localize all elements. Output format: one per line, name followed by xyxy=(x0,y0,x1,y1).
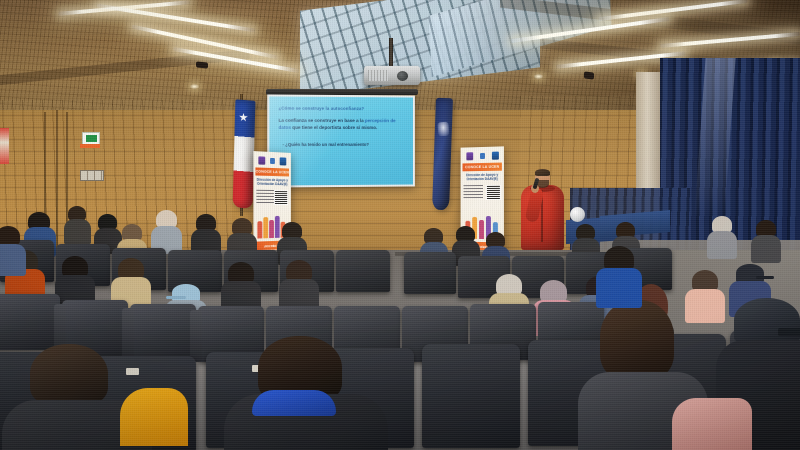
banner-logo-icon xyxy=(280,157,287,165)
person-torso xyxy=(685,289,725,323)
banner-figure xyxy=(263,217,268,238)
auditorium-seat[interactable] xyxy=(130,304,196,360)
projector-lens xyxy=(397,71,408,81)
flag-star-icon xyxy=(239,113,248,123)
banner-headline: CONOCE LA UCEN xyxy=(255,167,289,176)
person-torso xyxy=(751,235,781,263)
ceiling-downlight xyxy=(534,74,543,79)
banner-figure xyxy=(269,220,274,238)
slide-body-lead: La confianza se construye en base a la xyxy=(278,118,364,123)
person-hair xyxy=(600,300,674,380)
banner-figure xyxy=(257,221,262,238)
banner-logo-row xyxy=(463,148,502,162)
slide-body: La confianza se construye en base a la p… xyxy=(278,118,404,132)
light-switch-panel[interactable] xyxy=(80,170,104,181)
banner-subtitle: Dirección de Apoyo y Orientación DAAV(E) xyxy=(256,178,288,187)
slide-body-tail: que tiene el deportista sobre sí mismo. xyxy=(291,125,377,130)
banner-logo-icon xyxy=(258,156,265,164)
person-hair xyxy=(0,226,20,246)
projector-vent xyxy=(368,70,388,81)
foreground-blue-collar xyxy=(252,390,336,416)
banner-subtitle: Dirección de Apoyo y Orientación DAAV(E) xyxy=(463,173,500,182)
exit-sign-green-field xyxy=(86,135,97,142)
person-hair xyxy=(30,344,108,406)
slide-title: ¿Cómo se construye la autoconfianza? xyxy=(278,106,405,112)
volleyball xyxy=(570,207,585,222)
auditorium-seat[interactable] xyxy=(336,250,390,292)
slide-question: - ¿Quién ha tenido un mal entrenamiento? xyxy=(283,142,405,148)
foreground-yellow-hood xyxy=(120,388,188,446)
exit-sign-label-strip xyxy=(80,144,100,148)
cap-brim xyxy=(756,276,774,279)
banner-figure xyxy=(479,220,484,239)
person-cap xyxy=(736,264,764,282)
chilean-flag xyxy=(233,99,256,208)
banner-logo-icon xyxy=(480,152,485,158)
auditorium-seat-foreground[interactable] xyxy=(422,344,520,448)
person-torso xyxy=(0,244,26,276)
seat-number-tag xyxy=(126,368,139,375)
banner-logo-icon xyxy=(270,157,275,163)
wall-poster-left xyxy=(0,128,9,164)
banner-qr-code xyxy=(486,185,501,200)
ceiling-speaker xyxy=(584,71,594,79)
ceiling-speaker xyxy=(196,61,208,68)
presenter-hair xyxy=(535,169,550,176)
banner-headline: CONOCE LA UCEN xyxy=(463,163,502,172)
seat-armrest xyxy=(122,308,134,360)
banner-bodytext xyxy=(256,190,275,203)
banner-figure xyxy=(275,216,280,238)
person-torso xyxy=(64,219,91,245)
auditorium-photo: ¿Cómo se construye la autoconfianza? La … xyxy=(0,0,800,450)
banner-logo-icon xyxy=(491,151,498,159)
cap-brim xyxy=(778,328,800,336)
seat-armrest xyxy=(190,310,202,362)
auditorium-seat[interactable] xyxy=(404,252,456,294)
auditorium-seat[interactable] xyxy=(0,294,60,350)
cap-brim xyxy=(166,296,186,299)
foreground-pink-sleeve xyxy=(672,398,752,450)
person-torso xyxy=(707,231,737,259)
banner-logo-row xyxy=(255,153,289,167)
banner-logo-icon xyxy=(466,152,473,160)
ceiling-downlight xyxy=(190,84,199,89)
flag-emblem xyxy=(437,122,449,137)
person-torso xyxy=(596,268,642,308)
banner-qr-code xyxy=(274,190,288,205)
banner-bodytext xyxy=(463,185,483,198)
